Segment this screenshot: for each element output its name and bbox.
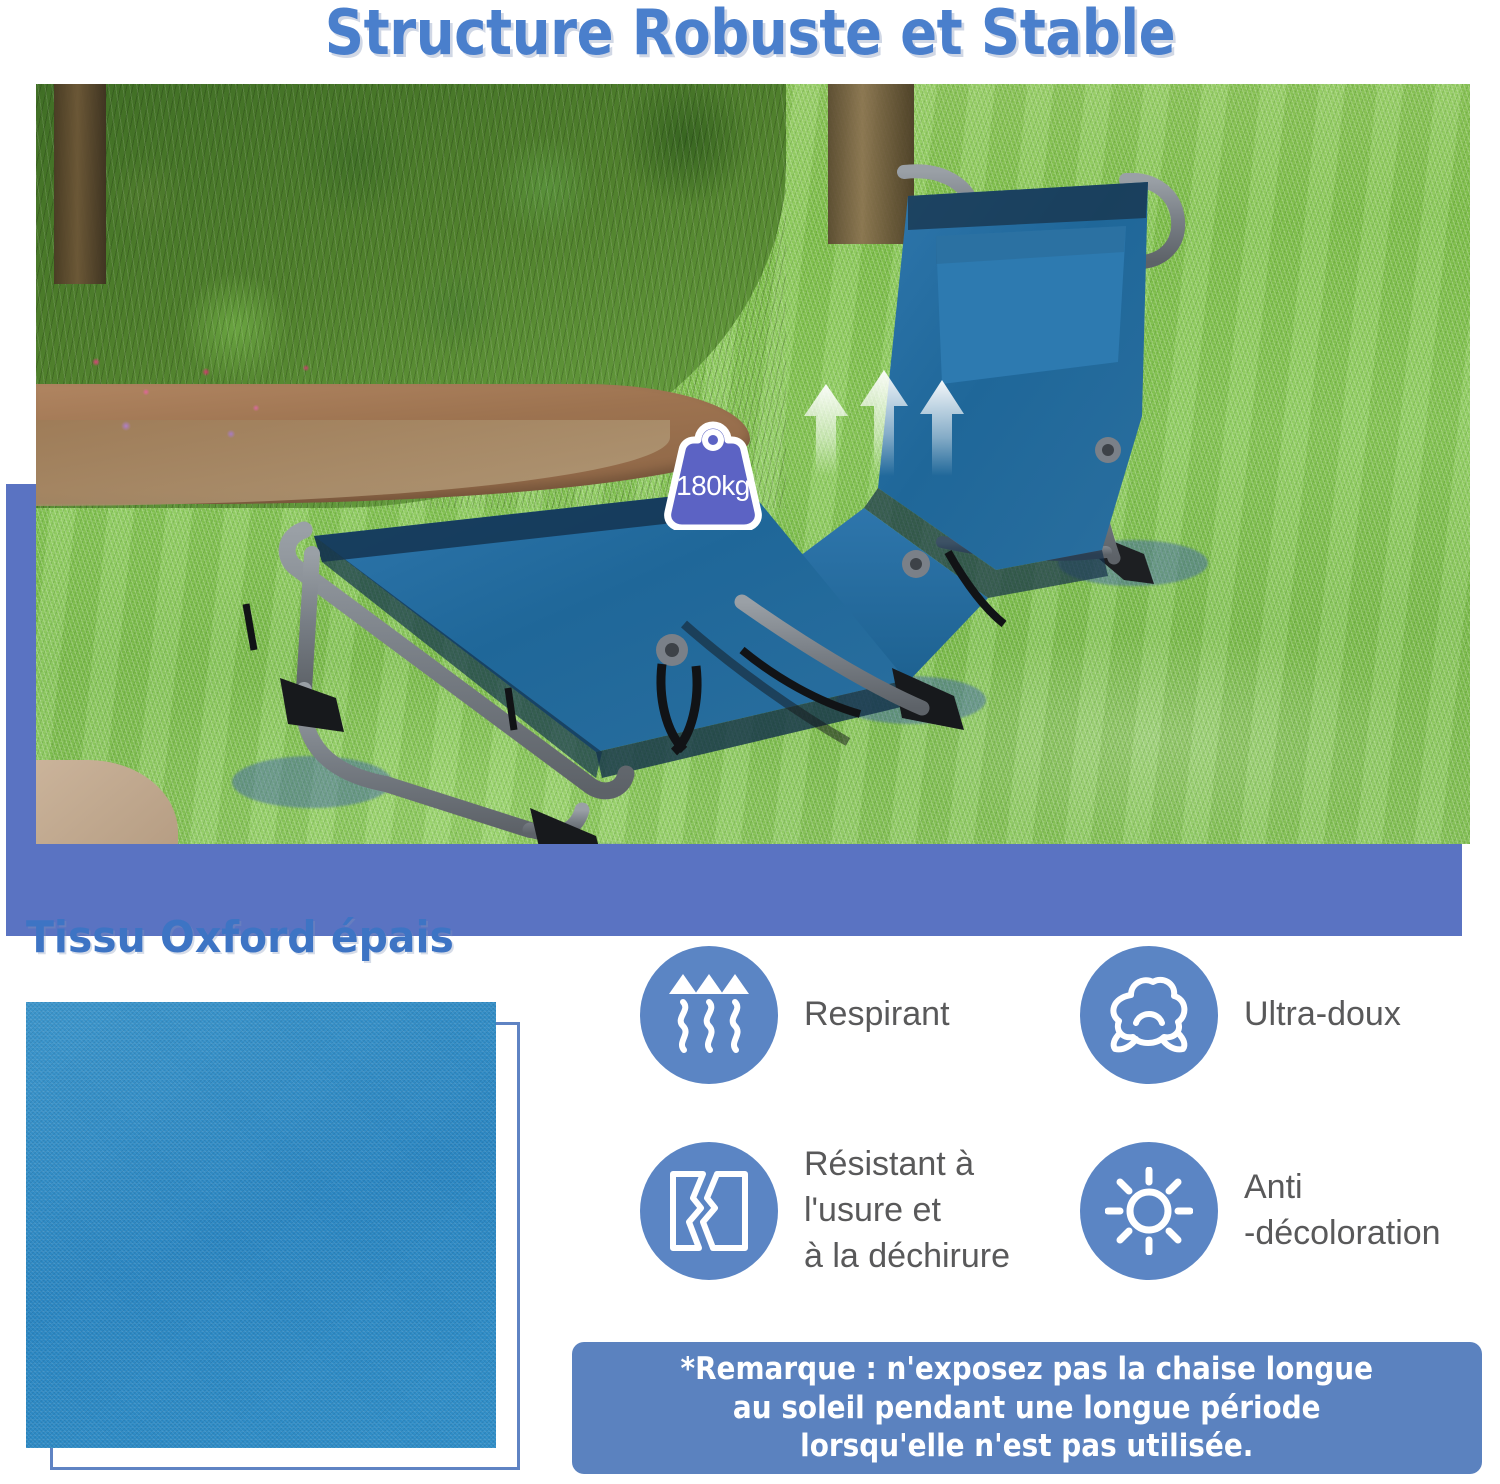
sun-icon bbox=[1080, 1142, 1218, 1280]
breathability-arrows bbox=[804, 370, 964, 476]
product-photo: 180kg bbox=[36, 84, 1470, 844]
page-title: Structure Robuste et Stable bbox=[90, 0, 1410, 69]
soft-cloud-icon bbox=[1080, 946, 1218, 1084]
feature-label: Anti -décoloration bbox=[1244, 1165, 1441, 1257]
weight-value: 180kg bbox=[652, 470, 774, 502]
weight-capacity-badge: 180kg bbox=[652, 414, 774, 530]
fabric-section-title: Tissu Oxford épais bbox=[26, 912, 454, 963]
feature-item-breathable: Respirant bbox=[640, 946, 950, 1084]
feature-item-anti-fade: Anti -décoloration bbox=[1080, 1142, 1441, 1280]
feature-label: Ultra-doux bbox=[1244, 992, 1401, 1038]
feature-item-tear-resistant: Résistant à l'usure et à la déchirure bbox=[640, 1142, 1010, 1280]
tear-resistant-icon bbox=[640, 1142, 778, 1280]
warning-note-box: *Remarque : n'exposez pas la chaise long… bbox=[572, 1342, 1482, 1474]
warning-note-text: *Remarque : n'exposez pas la chaise long… bbox=[681, 1350, 1374, 1465]
feature-item-ultra-soft: Ultra-doux bbox=[1080, 946, 1401, 1084]
feature-label: Respirant bbox=[804, 992, 950, 1038]
breathable-icon bbox=[640, 946, 778, 1084]
feature-grid: Respirant Ultra-doux R bbox=[640, 946, 1490, 1316]
hero-section: 180kg bbox=[0, 78, 1500, 868]
fabric-swatch bbox=[26, 1002, 496, 1448]
feature-label: Résistant à l'usure et à la déchirure bbox=[804, 1142, 1010, 1280]
fabric-weave-texture bbox=[26, 1002, 496, 1448]
